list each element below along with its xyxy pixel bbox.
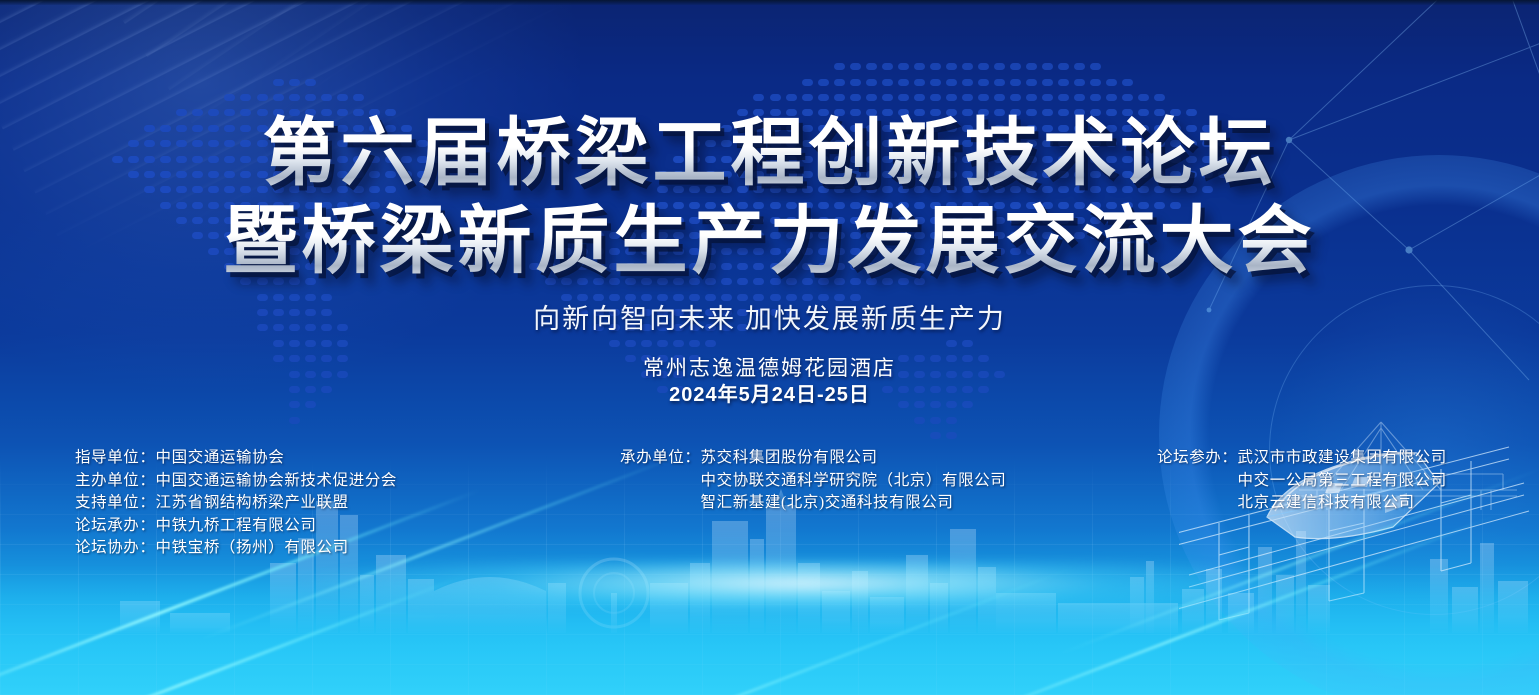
organizer-label: 承办单位： <box>620 447 701 470</box>
organizer-row: 支持单位：江苏省钢结构桥梁产业联盟 <box>75 492 397 515</box>
top-edge-strip <box>0 0 1539 5</box>
organizer-value: 中国交通运输协会 <box>156 447 285 470</box>
organizer-value: 智汇新基建(北京)交通科技有限公司 <box>701 492 954 515</box>
subtitle: 向新向智向未来 加快发展新质生产力 <box>0 297 1539 336</box>
organizer-value: 中铁宝桥（扬州）有限公司 <box>156 537 349 560</box>
organizer-column-right: 论坛参办：武汉市市政建设集团有限公司中交一公局第三工程有限公司北京云建信科技有限… <box>1157 447 1447 515</box>
organizer-label: 论坛参办： <box>1157 447 1238 470</box>
organizer-row: 北京云建信科技有限公司 <box>1157 492 1447 515</box>
organizer-row: 论坛参办：武汉市市政建设集团有限公司 <box>1157 447 1447 470</box>
organizer-row: 中交一公局第三工程有限公司 <box>1157 470 1447 493</box>
organizer-value: 中国交通运输协会新技术促进分会 <box>156 470 398 493</box>
organizer-row: 中交协联交通科学研究院（北京）有限公司 <box>620 470 1006 493</box>
organizer-value: 苏交科集团股份有限公司 <box>701 447 878 470</box>
organizer-value: 北京云建信科技有限公司 <box>1238 492 1415 515</box>
title-block: 第六届桥梁工程创新技术论坛 暨桥梁新质生产力发展交流大会 <box>0 112 1539 284</box>
organizer-value: 中交协联交通科学研究院（北京）有限公司 <box>701 470 1007 493</box>
organizer-row: 指导单位：中国交通运输协会 <box>75 447 397 470</box>
organizer-value: 中交一公局第三工程有限公司 <box>1238 470 1447 493</box>
organizer-row: 智汇新基建(北京)交通科技有限公司 <box>620 492 1006 515</box>
organizer-value: 武汉市市政建设集团有限公司 <box>1238 447 1447 470</box>
page-title-line-1: 第六届桥梁工程创新技术论坛 <box>0 112 1539 196</box>
organizer-row: 论坛协办：中铁宝桥（扬州）有限公司 <box>75 537 397 560</box>
conference-banner: 第六届桥梁工程创新技术论坛 暨桥梁新质生产力发展交流大会 向新向智向未来 加快发… <box>0 0 1539 695</box>
organizer-row: 论坛承办：中铁九桥工程有限公司 <box>75 515 397 538</box>
organizer-label: 主办单位： <box>75 470 156 493</box>
organizer-label: 论坛协办： <box>75 537 156 560</box>
organizer-label: 支持单位： <box>75 492 156 515</box>
organizer-label: 指导单位： <box>75 447 156 470</box>
organizer-column-middle: 承办单位：苏交科集团股份有限公司中交协联交通科学研究院（北京）有限公司智汇新基建… <box>620 447 1006 515</box>
organizer-value: 江苏省钢结构桥梁产业联盟 <box>156 492 349 515</box>
organizer-row: 承办单位：苏交科集团股份有限公司 <box>620 447 1006 470</box>
organizer-value: 中铁九桥工程有限公司 <box>156 515 317 538</box>
organizer-label: 论坛承办： <box>75 515 156 538</box>
organizer-row: 主办单位：中国交通运输协会新技术促进分会 <box>75 470 397 493</box>
date-text: 2024年5月24日-25日 <box>0 378 1539 407</box>
page-title-line-2: 暨桥梁新质生产力发展交流大会 <box>0 200 1539 284</box>
organizer-column-left: 指导单位：中国交通运输协会主办单位：中国交通运输协会新技术促进分会支持单位：江苏… <box>75 447 397 560</box>
